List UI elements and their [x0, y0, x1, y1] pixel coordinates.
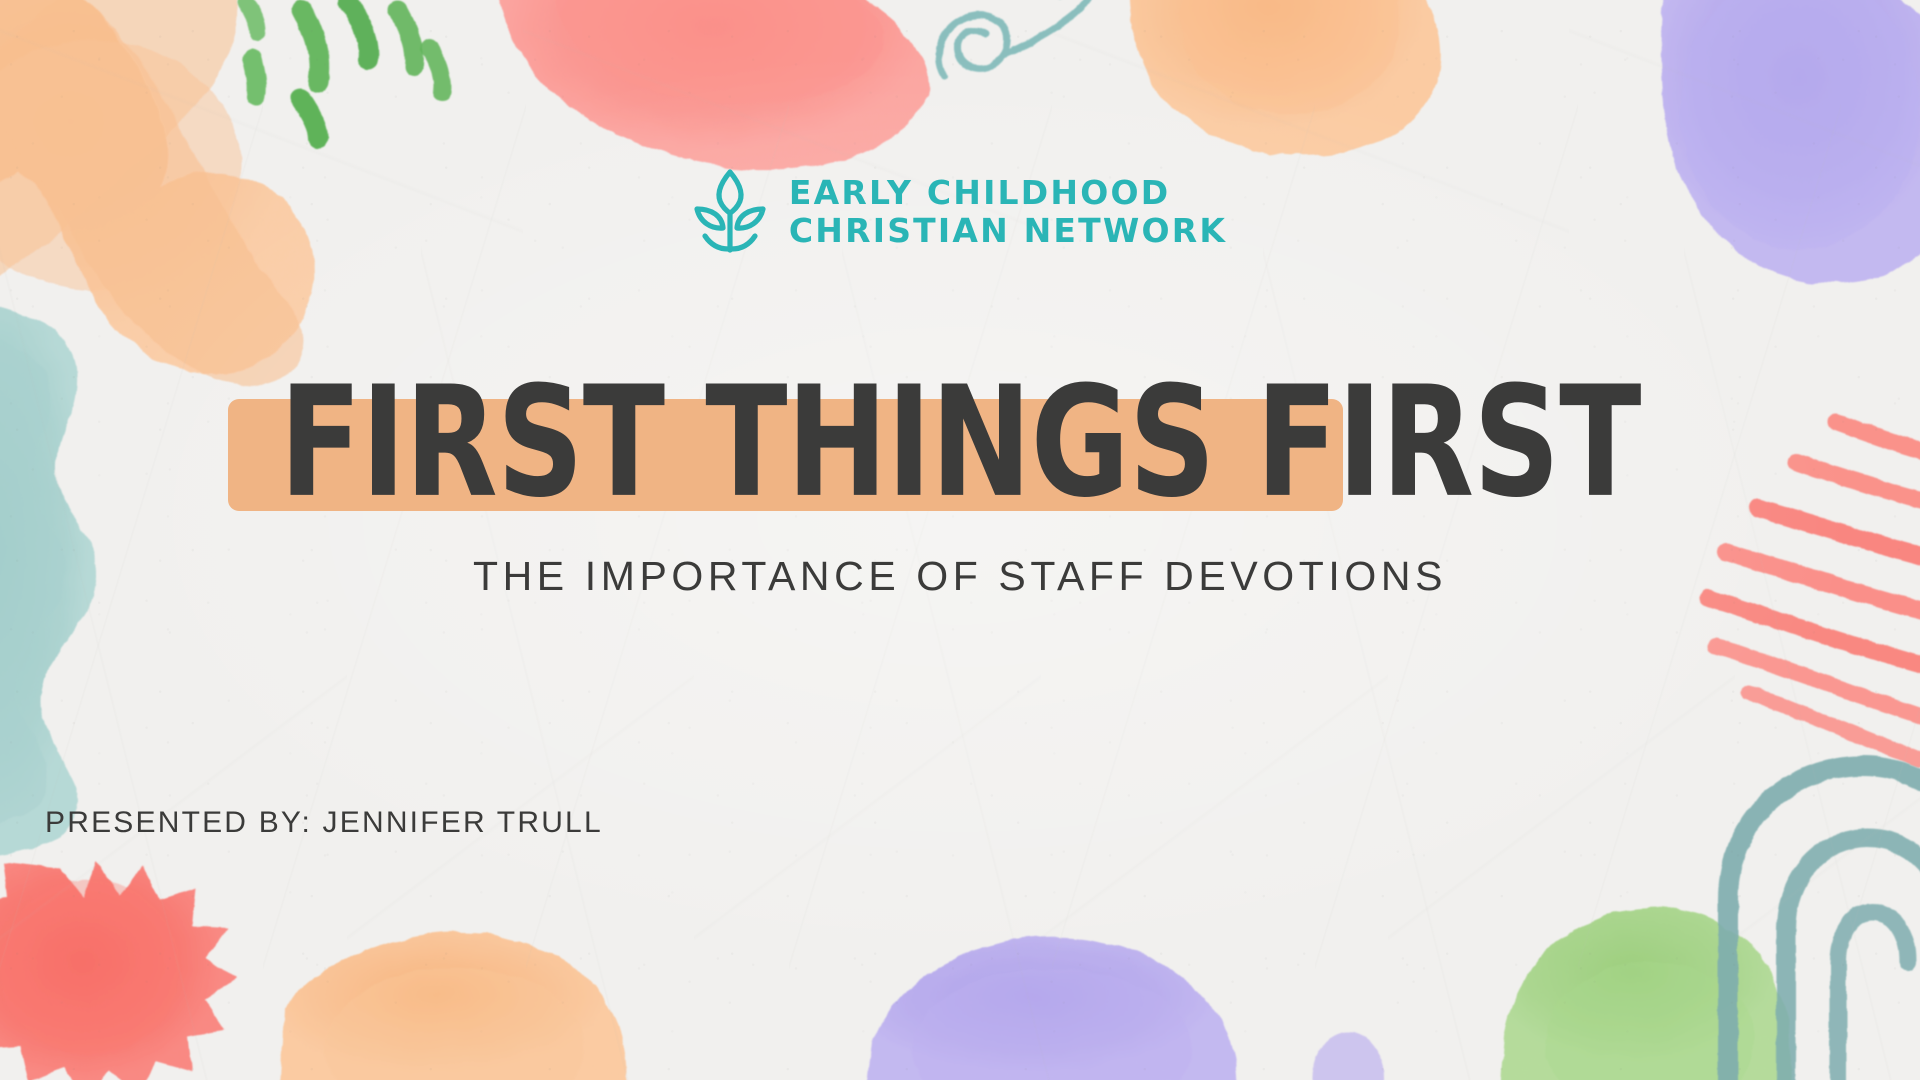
slide-title: FIRST THINGS FIRST	[96, 366, 1824, 519]
logo-line-2: CHRISTIAN NETWORK	[789, 214, 1227, 247]
logo-wordmark: EARLY CHILDHOOD CHRISTIAN NETWORK	[789, 176, 1227, 247]
organization-logo: EARLY CHILDHOOD CHRISTIAN NETWORK	[0, 168, 1920, 254]
slide-subtitle: THE IMPORTANCE OF STAFF DEVOTIONS	[0, 553, 1920, 600]
logo-line-1: EARLY CHILDHOOD	[789, 176, 1227, 209]
slide-content: EARLY CHILDHOOD CHRISTIAN NETWORK FIRST …	[0, 0, 1920, 1080]
plant-leaf-logo-icon	[693, 168, 767, 254]
presenter-credit: PRESENTED BY: JENNIFER TRULL	[45, 806, 603, 840]
presentation-slide: EARLY CHILDHOOD CHRISTIAN NETWORK FIRST …	[0, 0, 1920, 1080]
